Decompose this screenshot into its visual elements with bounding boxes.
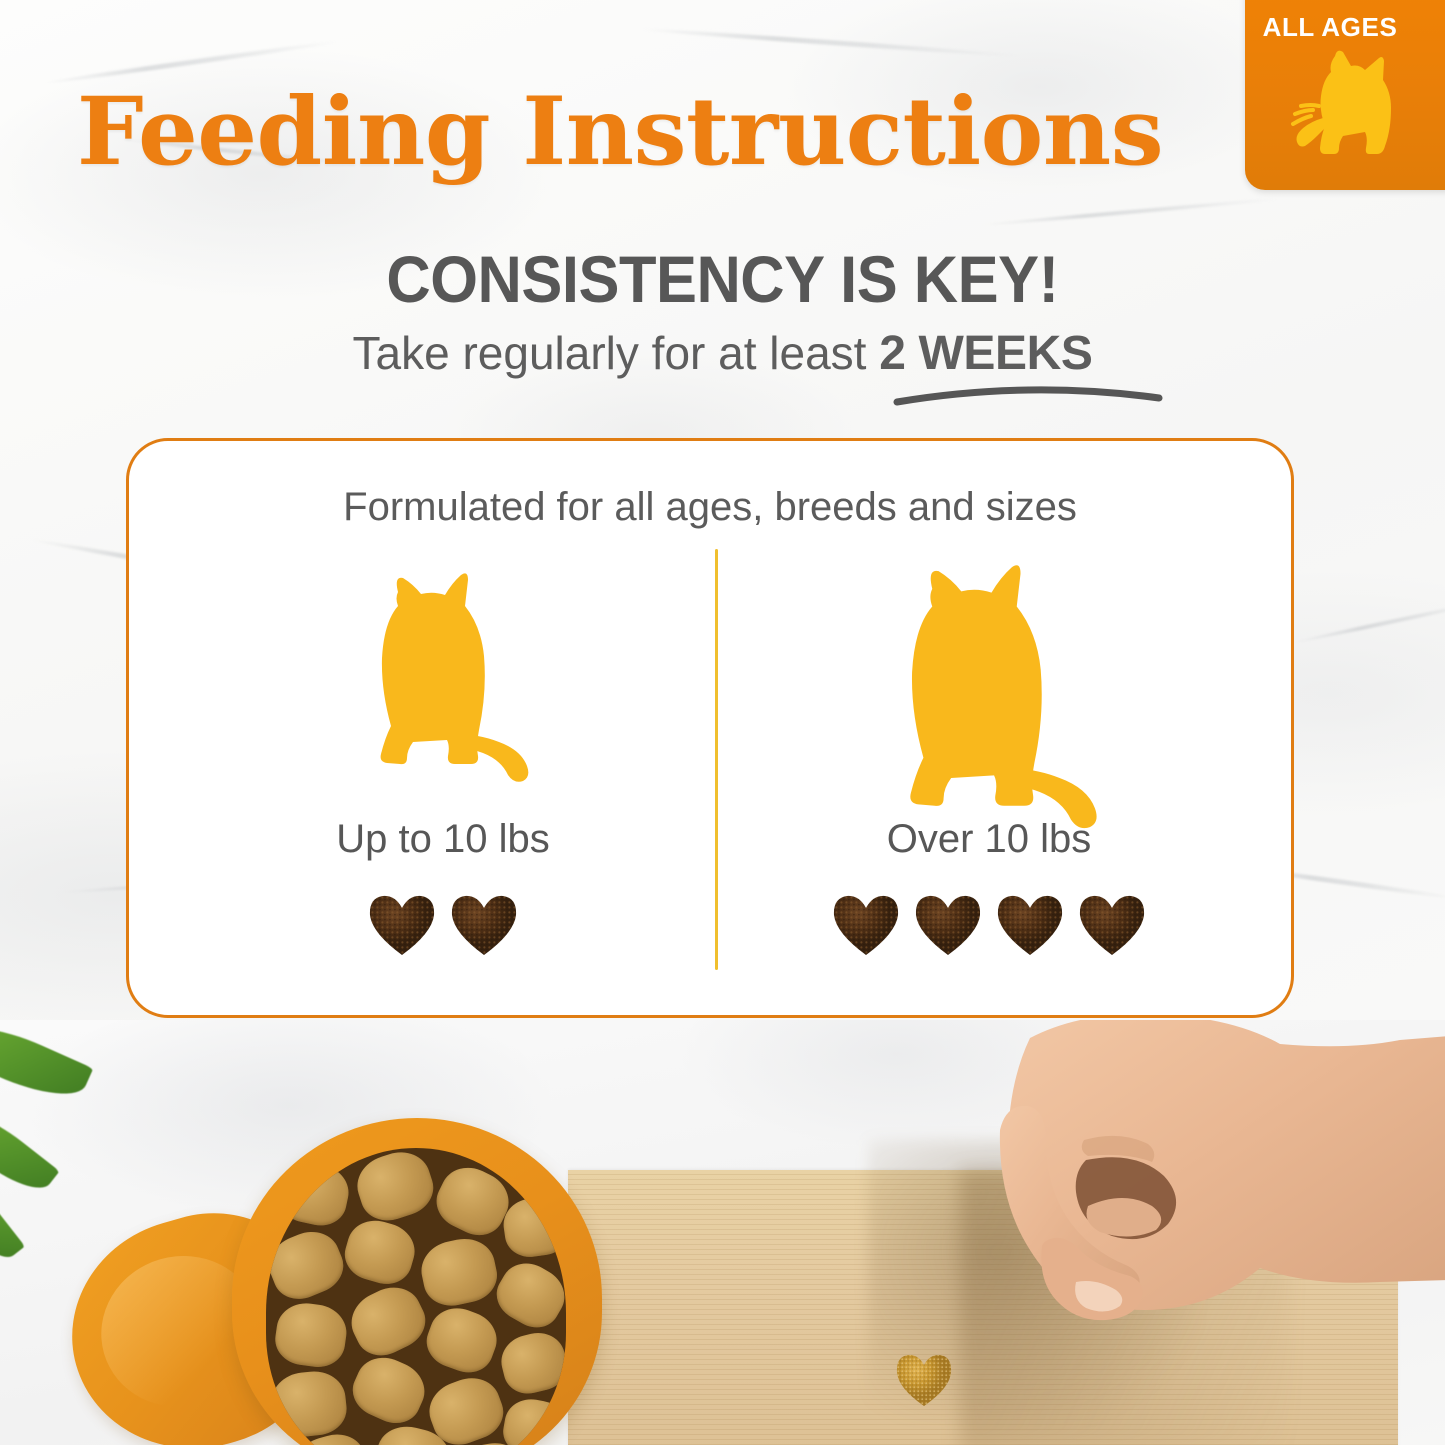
column-large-cat: Over 10 lbs — [719, 549, 1259, 979]
kibble-heart-icon — [448, 891, 520, 957]
tagline-emphasis: 2 WEEKS — [879, 327, 1092, 380]
cat-silhouette-icon — [1279, 46, 1405, 164]
all-ages-badge: ALL AGES — [1245, 0, 1445, 190]
tagline: Take regularly for at least 2 WEEKS — [0, 330, 1445, 378]
all-ages-badge-label: ALL AGES — [1245, 12, 1415, 43]
kibble-heart-icon — [912, 891, 984, 957]
cat-icon-wrap-small — [173, 559, 713, 784]
page-subtitle: CONSISTENCY IS KEY! — [51, 246, 1395, 312]
kibble-row-large — [719, 891, 1259, 957]
kibble-heart-icon — [366, 891, 438, 957]
size-label-large: Over 10 lbs — [719, 817, 1259, 862]
kibble-heart-icon — [830, 891, 902, 957]
held-kibble-piece — [893, 1350, 955, 1408]
size-label-small: Up to 10 lbs — [173, 817, 713, 862]
cat-silhouette-icon — [351, 570, 535, 784]
column-small-cat: Up to 10 lbs — [173, 549, 713, 979]
card-subheading: Formulated for all ages, breeds and size… — [129, 485, 1291, 530]
cat-silhouette-icon — [873, 561, 1105, 831]
product-photo — [0, 1020, 1445, 1445]
cat-icon-wrap-large — [719, 549, 1259, 831]
kibble-heart-icon — [1076, 891, 1148, 957]
bowl-interior — [266, 1148, 566, 1445]
infographic-page: ALL AGES Feeding Instructions CONSISTENC… — [0, 0, 1445, 1445]
feeding-card: Formulated for all ages, breeds and size… — [126, 438, 1294, 1018]
underline-swoosh — [893, 378, 1163, 408]
hand-holding-kibble — [880, 1020, 1445, 1410]
column-divider — [715, 549, 718, 970]
tagline-prefix: Take regularly for at least — [353, 327, 880, 379]
page-title: Feeding Instructions — [0, 85, 1240, 179]
kibble-heart-icon — [994, 891, 1066, 957]
kibble-row-small — [173, 891, 713, 957]
